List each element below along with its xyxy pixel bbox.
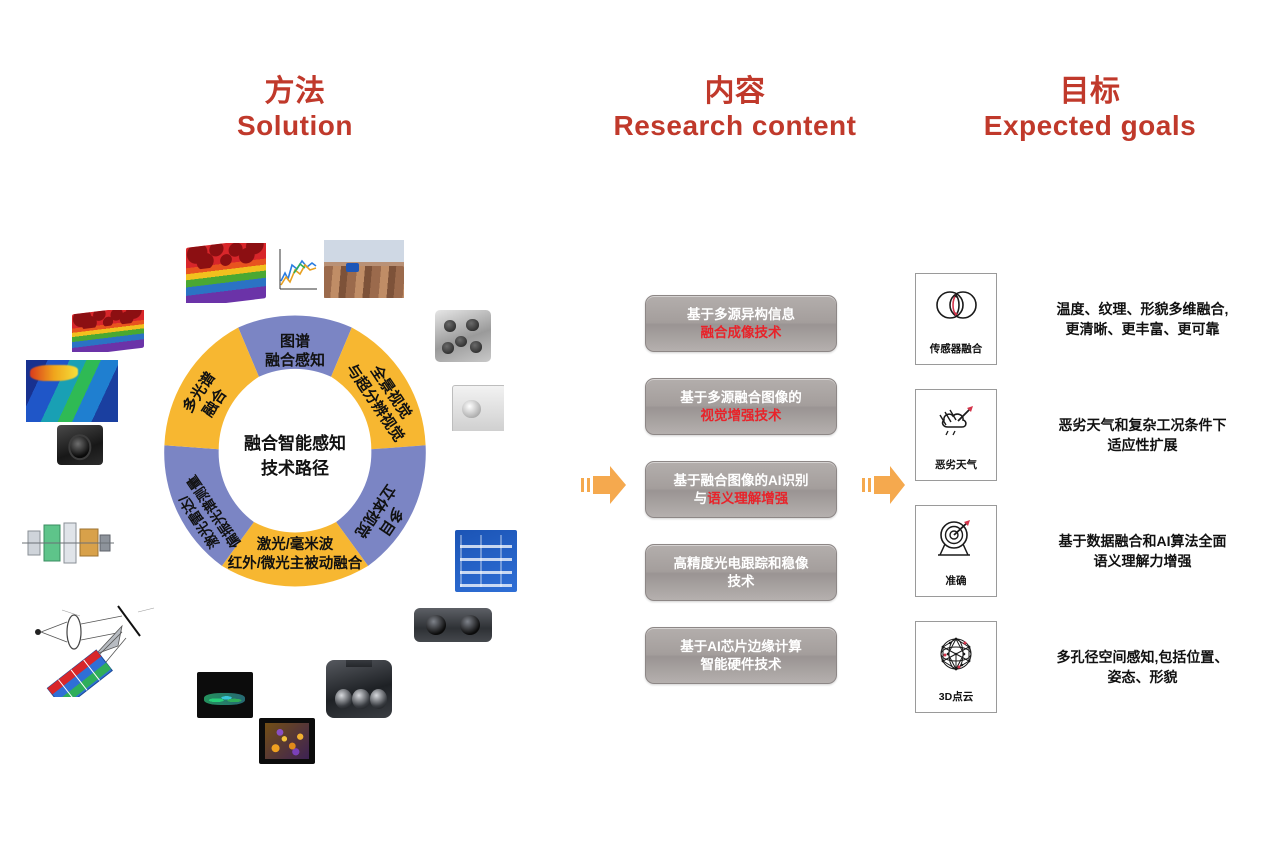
goal-text-harsh-weather-line1: 恶劣天气和复杂工况条件下 bbox=[1059, 415, 1227, 435]
content-box-ai-chip-edge[interactable]: 基于AI芯片边缘计算 智能硬件技术 bbox=[645, 627, 837, 684]
column-header-content: 内容 Research content bbox=[565, 74, 905, 142]
industrial-pipe-photo-thumb bbox=[324, 240, 404, 298]
column-header-solution-en: Solution bbox=[150, 109, 440, 142]
content-box-tracking-line1: 高精度光电跟踪和稳像 bbox=[674, 555, 809, 573]
infrared-camera-thumb bbox=[57, 425, 103, 465]
content-box-ai-semantic-line1: 基于融合图像的AI识别 bbox=[674, 472, 809, 490]
arrow-solution-to-content bbox=[577, 462, 629, 508]
wheel-label-spectral-fusion-sensing-line2: 融合感知 bbox=[265, 351, 325, 369]
goal-text-accuracy: 基于数据融合和AI算法全面 语义理解力增强 bbox=[1025, 505, 1260, 597]
goal-text-harsh-weather-line2: 适应性扩展 bbox=[1108, 435, 1178, 455]
pointcloud-scan-green-thumb bbox=[197, 672, 253, 718]
column-header-solution-cn: 方法 bbox=[150, 74, 440, 109]
wheel-label-spectral-fusion-sensing-line1: 图谱 bbox=[280, 332, 310, 350]
target-dart-icon bbox=[932, 515, 980, 561]
goal-row-accuracy: 准确 基于数据融合和AI算法全面 语义理解力增强 bbox=[915, 505, 1260, 597]
goal-card-point-cloud-3d[interactable]: 3D点云 bbox=[915, 621, 997, 713]
optical-instrument-thumb bbox=[452, 385, 504, 431]
content-box-ai-chip-line2: 智能硬件技术 bbox=[701, 656, 782, 674]
goal-card-point-cloud-3d-caption: 3D点云 bbox=[939, 689, 973, 704]
goal-row-sensor-fusion: 传感器融合 温度、纹理、形貌多维融合, 更清晰、更丰富、更可靠 bbox=[915, 273, 1260, 365]
technology-path-wheel: 图谱 融合感知 激光/毫米波 红外/微光主被动融合 全景视觉 与超分辨视觉 多目… bbox=[135, 297, 455, 617]
goal-text-point-cloud-3d-line2: 姿态、形貌 bbox=[1108, 667, 1178, 687]
goal-text-harsh-weather: 恶劣天气和复杂工况条件下 适应性扩展 bbox=[1025, 389, 1260, 481]
wheel-label-active-passive-fusion-line2: 红外/微光主被动融合 bbox=[228, 554, 363, 572]
column-header-goals-cn: 目标 bbox=[925, 74, 1255, 109]
point-cloud-sphere-icon bbox=[932, 631, 980, 677]
content-box-fusion-imaging-line2: 融合成像技术 bbox=[701, 324, 782, 342]
content-box-visual-enhancement-line2: 视觉增强技术 bbox=[701, 407, 782, 425]
arrow-content-to-goals bbox=[860, 462, 908, 508]
pointcloud-scan-orange-thumb bbox=[259, 718, 315, 764]
column-header-goals-en: Expected goals bbox=[925, 109, 1255, 142]
goal-card-harsh-weather[interactable]: 恶劣天气 bbox=[915, 389, 997, 481]
goal-row-harsh-weather: 恶劣天气 恶劣天气和复杂工况条件下 适应性扩展 bbox=[915, 389, 1260, 481]
hyperspectral-cube-thumb bbox=[186, 243, 266, 303]
apple-hyperspectral-slab-thumb bbox=[72, 310, 144, 352]
polarization-optics-module-thumb bbox=[22, 515, 114, 569]
rain-cloud-icon bbox=[932, 399, 980, 445]
content-box-ai-semantic-line2: 与语义理解增强 bbox=[694, 490, 789, 508]
venn-circles-icon bbox=[932, 283, 980, 329]
content-box-ai-semantic[interactable]: 基于融合图像的AI识别 与语义理解增强 bbox=[645, 461, 837, 518]
column-header-content-en: Research content bbox=[565, 109, 905, 142]
goal-card-harsh-weather-caption: 恶劣天气 bbox=[935, 457, 977, 472]
column-header-goals: 目标 Expected goals bbox=[925, 74, 1255, 142]
goal-text-point-cloud-3d-line1: 多孔径空间感知,包括位置、 bbox=[1057, 647, 1229, 667]
goal-text-accuracy-line1: 基于数据融合和AI算法全面 bbox=[1059, 531, 1227, 551]
column-header-solution: 方法 Solution bbox=[150, 74, 440, 142]
thermal-infrared-image-thumb bbox=[26, 360, 118, 422]
content-box-ai-semantic-highlight: 语义理解增强 bbox=[707, 491, 788, 506]
content-box-ai-semantic-prefix: 与 bbox=[694, 491, 708, 506]
goal-text-sensor-fusion-line1: 温度、纹理、形貌多维融合, bbox=[1057, 299, 1229, 319]
content-box-fusion-imaging-line1: 基于多源异构信息 bbox=[687, 306, 795, 324]
content-box-fusion-imaging[interactable]: 基于多源异构信息 融合成像技术 bbox=[645, 295, 837, 352]
spectrum-plot-thumb bbox=[272, 243, 320, 298]
goal-card-accuracy[interactable]: 准确 bbox=[915, 505, 997, 597]
goal-text-sensor-fusion-line2: 更清晰、更丰富、更可靠 bbox=[1066, 319, 1220, 339]
goal-card-sensor-fusion[interactable]: 传感器融合 bbox=[915, 273, 997, 365]
lidar-eo-turret-thumb bbox=[326, 660, 392, 718]
wheel-label-active-passive-fusion-line1: 激光/毫米波 bbox=[257, 535, 334, 553]
content-box-ai-chip-line1: 基于AI芯片边缘计算 bbox=[680, 638, 802, 656]
goal-text-sensor-fusion: 温度、纹理、形貌多维融合, 更清晰、更丰富、更可靠 bbox=[1025, 273, 1260, 365]
goal-card-accuracy-caption: 准确 bbox=[946, 573, 967, 588]
content-box-visual-enhancement[interactable]: 基于多源融合图像的 视觉增强技术 bbox=[645, 378, 837, 435]
goal-text-point-cloud-3d: 多孔径空间感知,包括位置、 姿态、形貌 bbox=[1025, 621, 1260, 713]
goal-card-sensor-fusion-caption: 传感器融合 bbox=[930, 341, 983, 356]
goal-row-point-cloud-3d: 3D点云 多孔径空间感知,包括位置、 姿态、形貌 bbox=[915, 621, 1260, 713]
content-box-tracking-line2: 技术 bbox=[728, 573, 755, 591]
column-header-content-cn: 内容 bbox=[565, 74, 905, 109]
goal-text-accuracy-line2: 语义理解力增强 bbox=[1094, 551, 1192, 571]
content-box-tracking-stabilization[interactable]: 高精度光电跟踪和稳像 技术 bbox=[645, 544, 837, 601]
pcb-sensor-array-thumb bbox=[455, 530, 517, 592]
content-box-visual-enhancement-line1: 基于多源融合图像的 bbox=[680, 389, 802, 407]
